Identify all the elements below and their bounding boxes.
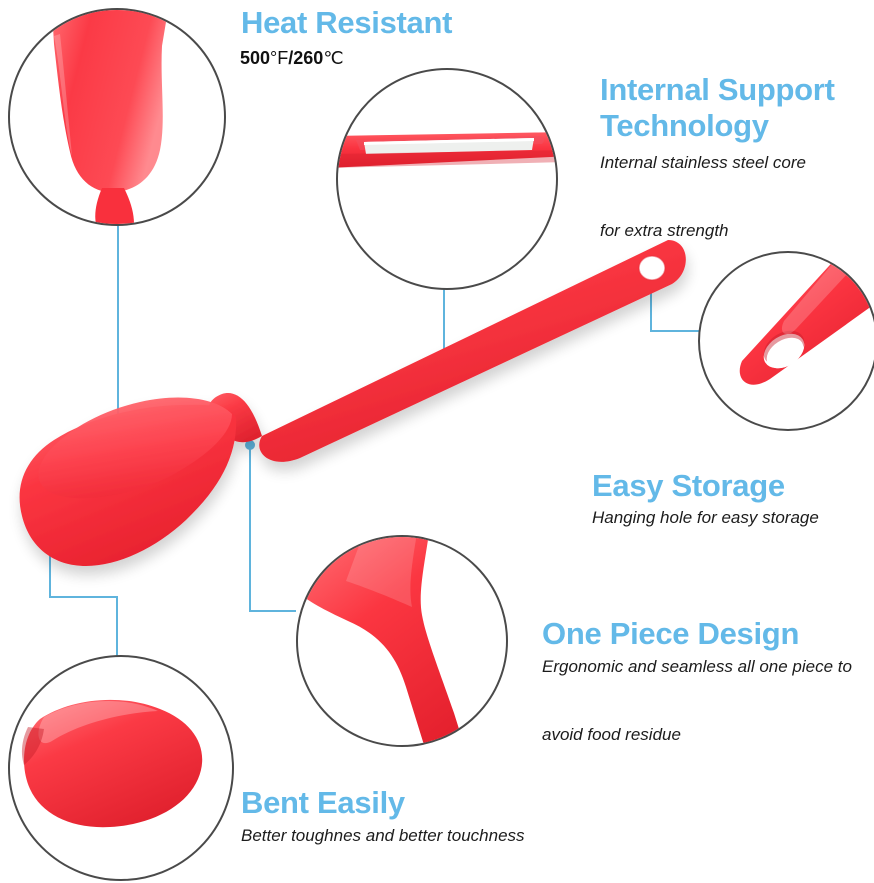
feature-title-internal-support: Internal Support Technology [600, 72, 874, 144]
feature-title-bent-easily: Bent Easily [241, 785, 541, 821]
connector-dot-internal-support [439, 353, 449, 363]
callout-hanging-hole-closeup [698, 251, 874, 431]
connector-dot-bent-easily [45, 530, 55, 540]
hanging-hole [639, 256, 665, 280]
heat-c-unit: ℃ [323, 48, 343, 68]
callout-handle-steel-core-closeup [336, 68, 558, 290]
heat-c-value: 260 [293, 48, 323, 68]
feature-title-heat-resistant: Heat Resistant [241, 5, 541, 41]
feature-subtitle-easy-storage: Hanging hole for easy storage [592, 505, 874, 531]
product-infographic: Heat Resistant 500°F/260℃ Internal Suppo… [0, 0, 874, 883]
spatula-head [20, 405, 237, 566]
feature-subtitle-heat-resistant: 500°F/260℃ [240, 47, 344, 69]
feature-title-one-piece-design: One Piece Design [542, 616, 872, 652]
callout-image-one-piece-design [298, 537, 506, 745]
connector-one-piece-design [250, 445, 296, 611]
spatula-body [20, 240, 686, 566]
heat-f-value: 500 [240, 48, 270, 68]
feature-subtitle-one-piece-design: Ergonomic and seamless all one piece to … [542, 650, 872, 752]
callout-image-easy-storage [700, 253, 874, 429]
feature-title-easy-storage: Easy Storage [592, 468, 874, 504]
callout-image-internal-support [338, 70, 556, 288]
callout-image-bent-easily [10, 657, 232, 879]
spatula-head-highlight [38, 398, 232, 499]
callout-spatula-head-closeup [8, 8, 226, 226]
connector-dot-easy-storage [646, 268, 656, 278]
connector-dot-one-piece-design [245, 440, 255, 450]
hanging-hole-rim [639, 256, 665, 280]
head-closeup-stem [95, 188, 134, 224]
spatula-neck [208, 393, 262, 442]
connector-bent-easily [50, 535, 117, 658]
feature-subtitle-internal-support: Internal stainless steel core for extra … [600, 146, 870, 248]
feature-subtitle-bent-easily: Better toughnes and better touchness [241, 823, 661, 849]
heat-f-unit: °F [270, 48, 288, 68]
hole-closeup-handle-tip [740, 253, 874, 385]
connector-dot-heat-resistant [113, 485, 123, 495]
callout-seamless-joint-closeup [296, 535, 508, 747]
callout-bent-head-closeup [8, 655, 234, 881]
connector-easy-storage [651, 273, 700, 331]
callout-image-heat-resistant [10, 10, 224, 224]
head-closeup-blade [52, 10, 168, 192]
